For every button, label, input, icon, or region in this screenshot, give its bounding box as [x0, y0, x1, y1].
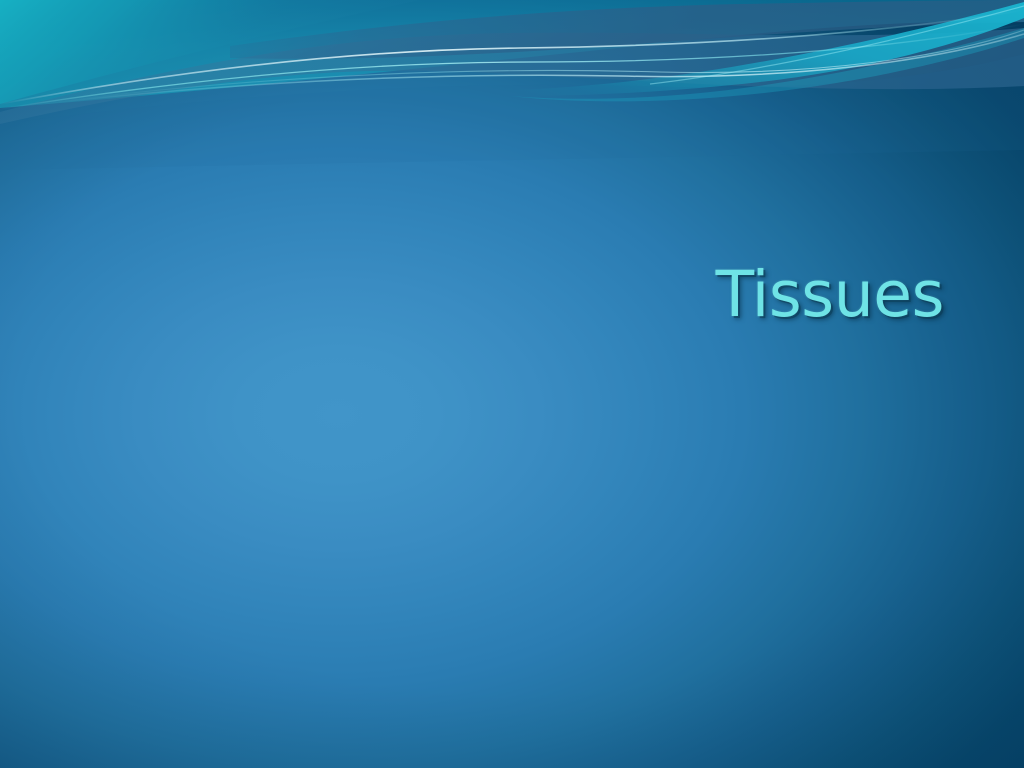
wave-decoration	[0, 0, 1024, 768]
slide-title: Tissues	[716, 262, 944, 328]
slide-canvas: Tissues	[0, 0, 1024, 768]
title-block: Tissues	[0, 262, 944, 328]
